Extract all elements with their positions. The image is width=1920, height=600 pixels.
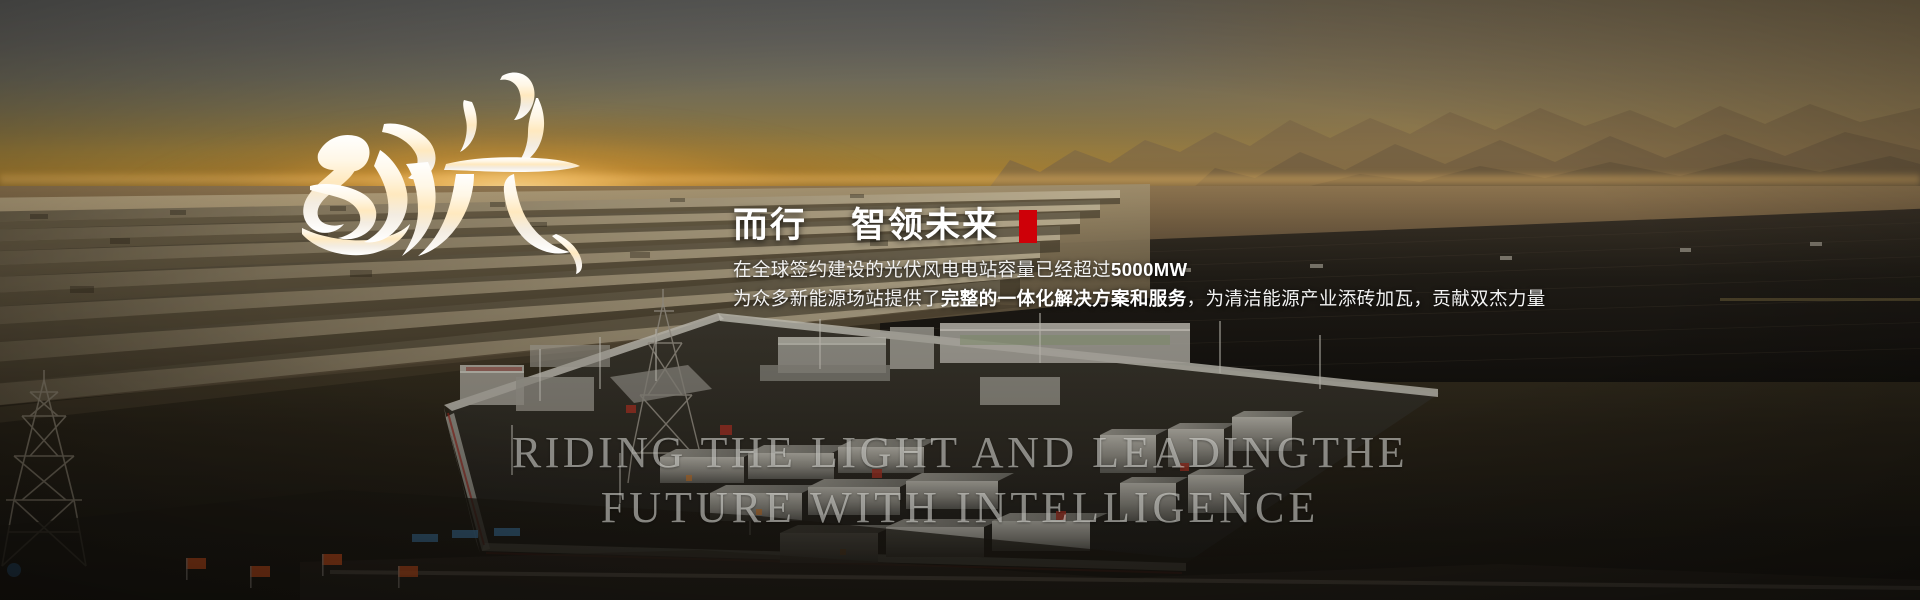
hero-copy: 而行 智领未来 在全球签约建设的光伏风电电站容量已经超过5000MW 为众多新能… — [733, 205, 1546, 313]
red-accent-marker — [1019, 210, 1037, 243]
subtitle-solution-highlight: 完整的一体化解决方案和服务 — [941, 288, 1187, 309]
headline-part-1: 而行 — [733, 205, 807, 247]
subtitle-line-2-prefix: 为众多新能源场站提供了 — [733, 288, 941, 309]
subtitle-line-2: 为众多新能源场站提供了完整的一体化解决方案和服务，为清洁能源产业添砖加瓦，贡献双… — [733, 284, 1546, 313]
subtitle-capacity-value: 5000MW — [1111, 259, 1187, 280]
subtitle-line-2-suffix: ，为清洁能源产业添砖加瓦，贡献双杰力量 — [1187, 288, 1546, 309]
calligraphy-brand-mark — [288, 58, 598, 276]
foreground-road — [0, 430, 1920, 600]
subtitle-line-1: 在全球签约建设的光伏风电电站容量已经超过5000MW — [733, 255, 1546, 284]
subtitle-block: 在全球签约建设的光伏风电电站容量已经超过5000MW 为众多新能源场站提供了完整… — [733, 255, 1546, 313]
hero-banner: 而行 智领未来 在全球签约建设的光伏风电电站容量已经超过5000MW 为众多新能… — [0, 0, 1920, 600]
headline-part-2: 智领未来 — [851, 205, 999, 247]
page-title: 而行 智领未来 — [733, 205, 1546, 247]
subtitle-line-1-prefix: 在全球签约建设的光伏风电电站容量已经超过 — [733, 259, 1111, 280]
